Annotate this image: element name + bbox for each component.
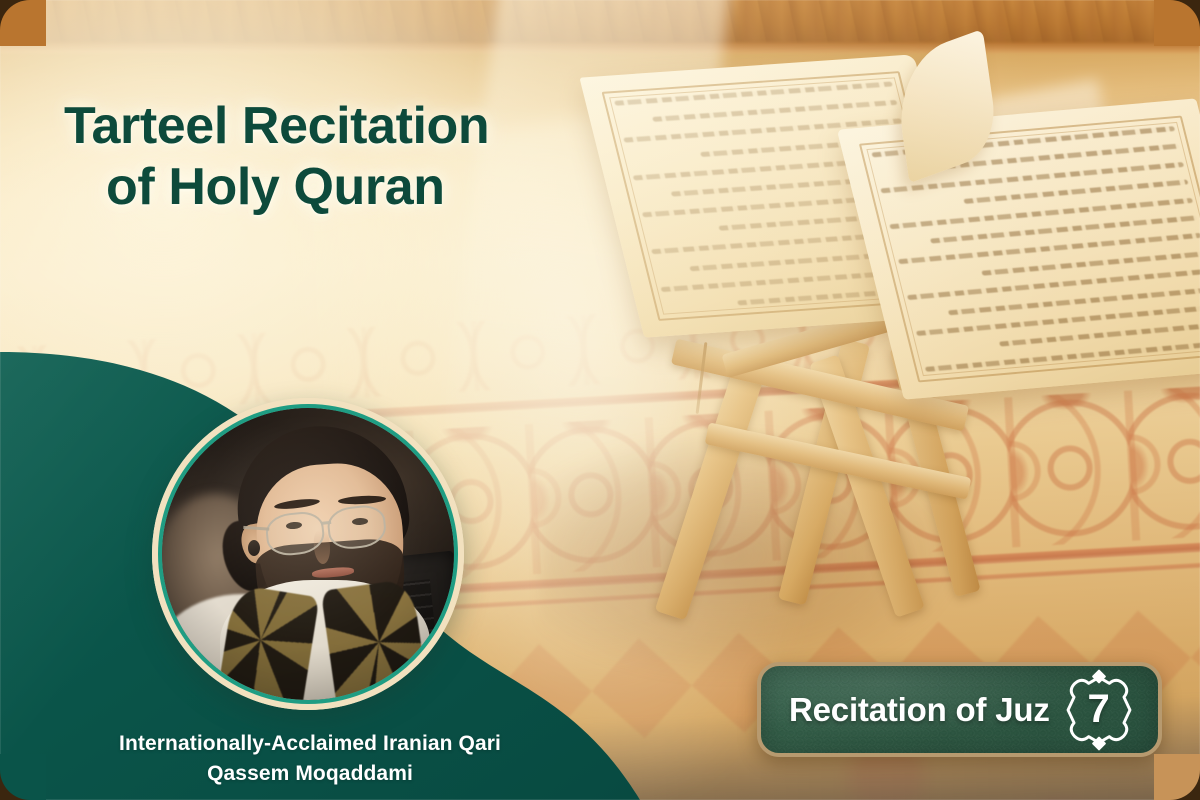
octagonal-islamic-frame-icon: 7 (1056, 667, 1142, 753)
qari-credit-line-2: Qassem Moqaddami (0, 759, 620, 789)
title-line-2: of Holy Quran (106, 157, 624, 218)
avatar (152, 398, 464, 710)
juz-badge-label: Recitation of Juz (789, 691, 1050, 729)
qari-credit: Internationally-Acclaimed Iranian Qari Q… (0, 729, 620, 789)
title-line-1: Tarteel Recitation (64, 97, 489, 155)
avatar-teal-ring (158, 404, 458, 704)
poster-root: Tarteel Recitation of Holy Quran Interna… (0, 0, 1200, 800)
qari-credit-line-1: Internationally-Acclaimed Iranian Qari (0, 729, 620, 759)
juz-number: 7 (1056, 667, 1142, 753)
page-title: Tarteel Recitation of Holy Quran (64, 96, 624, 219)
juz-badge[interactable]: Recitation of Juz 7 (757, 662, 1162, 757)
